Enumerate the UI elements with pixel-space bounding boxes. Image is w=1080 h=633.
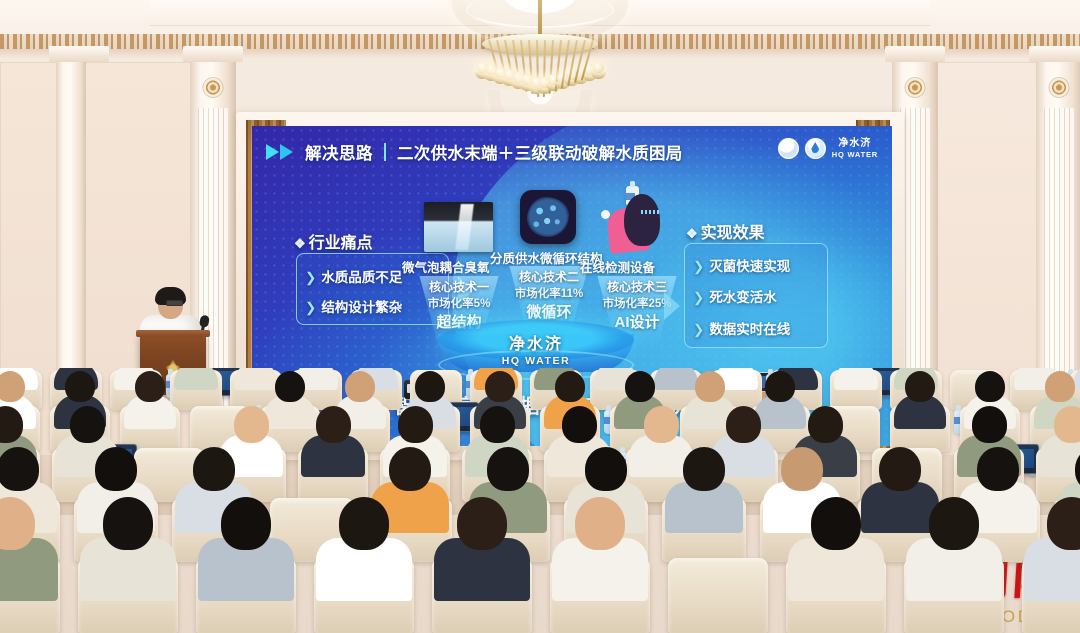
pilaster-capital [183,46,243,62]
audience-person-head [562,406,597,443]
person-with-bottle-illustration [604,186,660,252]
speaker-glasses-icon [166,300,183,306]
pain-point-label-2: 结构设计繁杂 [321,300,402,315]
audience-person-head [275,371,305,403]
illustration-dot [601,210,610,219]
audience-person-shoulders [834,368,878,390]
rosette-icon [204,78,223,97]
audience-person-head [644,406,679,443]
audience-person-head [975,371,1005,403]
pain-points-heading: ❖行业痛点 [294,229,373,253]
audience-person-head [457,497,507,550]
effect-label-2: 死水变活水 [709,290,777,305]
audience-person-head [726,406,761,443]
rosette-icon [906,78,925,97]
audience-person-head [585,447,627,491]
audience-person-head [193,447,235,491]
podium-top [136,330,210,337]
pilaster-capital [1029,46,1080,62]
audience-person-head [905,371,935,403]
platform-brand: 净水济 HQ WATER [488,336,584,367]
illustration-tag [641,210,659,214]
ai-brain-tile-icon [520,190,576,244]
audience-person-head [345,371,375,403]
pain-point-label-1: 水质品质不足 [321,270,402,285]
effects-heading-text: 实现效果 [701,225,765,242]
audience-person-head [879,447,921,491]
effect-item-1: ❯灭菌快速实现 [693,255,790,275]
audience-person-head [480,406,515,443]
audience-person-head [1045,371,1075,403]
audience-person-head [929,497,979,550]
audience-person-head [389,447,431,491]
illustration-hair [624,194,660,246]
slide-brand-cn: 净水济 [832,139,878,149]
pilaster-capital [49,46,109,62]
pillar-3-caption: 在线检测设备 [580,257,655,276]
audience-person-head [487,447,529,491]
audience-person-shoulders [234,368,278,390]
chevron-right-icon: ❯ [693,290,704,305]
rosette-icon [1050,78,1069,97]
fish-tank-water-pour-image [424,202,493,252]
audience-person-head [575,497,625,550]
platform-brand-cn: 净水济 [488,336,584,354]
audience-person-head [765,371,795,403]
screenshot-root: 解决思路 二次供水末端＋三级联动破解水质困局 净水济 HQ WATER ❖行业痛… [0,0,1080,633]
effect-item-3: ❯数据实时在线 [693,318,790,338]
slide-brand-en: HQ WATER [832,151,878,159]
flow-arrow-right [664,292,680,320]
audience-area [0,368,1080,633]
pain-point-item-2: ❯结构设计繁杂 [305,296,402,316]
slide-brand: 净水济 HQ WATER [832,139,878,159]
audience-person-head [103,497,153,550]
effect-label-1: 灭菌快速实现 [709,259,790,274]
audience-person-head [683,447,725,491]
audience-person-head [695,371,725,403]
pain-point-item-1: ❯水质品质不足 [305,266,402,286]
audience-person-head [135,371,165,403]
audience-person-head [625,371,655,403]
slide-logo-group: 净水济 HQ WATER [778,138,878,159]
seal-emblem-icon [778,138,799,159]
chevron-right-icon: ❯ [305,300,316,315]
audience-person-head [555,371,585,403]
effect-item-2: ❯死水变活水 [693,286,777,306]
audience-person-head [485,371,515,403]
audience-person-head [1054,406,1080,443]
audience-person-head [0,447,39,491]
audience-person-head [234,406,269,443]
header-divider [384,143,386,161]
audience-person-head [415,371,445,403]
slide-header-title: 二次供水末端＋三级联动破解水质困局 [397,140,683,164]
chandelier-bulb [593,62,604,73]
audience-person-head [811,497,861,550]
audience-person-head [972,406,1007,443]
audience-person-head [316,406,351,443]
audience-person-head [339,497,389,550]
audience-person-head [221,497,271,550]
pain-points-heading-text: 行业痛点 [309,235,373,252]
audience-person-shoulders [174,368,218,390]
water-drop-icon [805,138,826,159]
audience-person-head [808,406,843,443]
chevron-right-icon: ❯ [693,322,704,337]
diamond-bullet-icon: ❖ [686,226,698,241]
effects-heading: ❖实现效果 [686,219,765,243]
diamond-bullet-icon: ❖ [294,236,306,251]
pillar-1-caption: 微气泡耦合臭氧 [402,257,490,276]
audience-person-head [977,447,1019,491]
chevron-right-icon: ❯ [693,259,704,274]
effect-label-3: 数据实时在线 [709,322,790,337]
slide-header: 解决思路 二次供水末端＋三级联动破解水质困局 [266,140,683,164]
audience-person-head [398,406,433,443]
audience-person-shoulders [654,368,698,390]
chevron-right-icon: ❯ [305,270,316,285]
slide-header-tag: 解决思路 [305,140,373,164]
audience-person-head [781,447,823,491]
audience-person-head [65,371,95,403]
double-chevron-right-icon [266,144,298,161]
audience-person-head [95,447,137,491]
pilaster-capital [885,46,945,62]
audience-person-head [1047,497,1080,550]
audience-chair [668,558,768,633]
audience-person-head [70,406,105,443]
platform-brand-en: HQ WATER [488,356,584,368]
